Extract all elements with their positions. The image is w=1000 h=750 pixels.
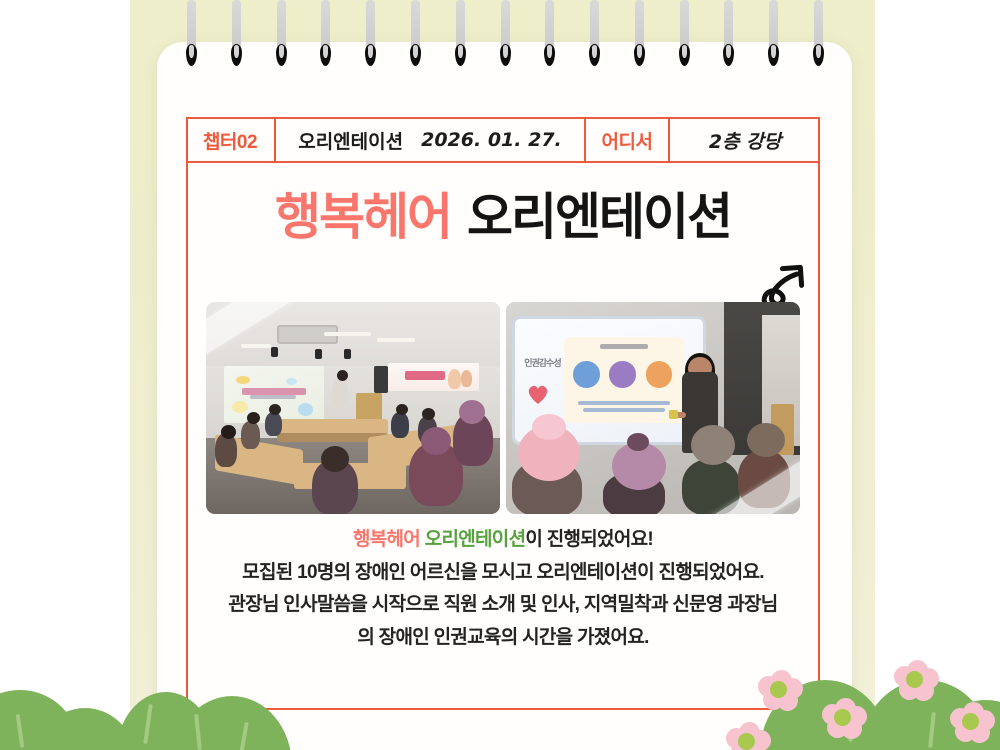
heart-icon: [526, 383, 550, 405]
header-row: 챕터02 오리엔테이션 2026. 01. 27. 어디서 2층 강당: [186, 117, 820, 163]
chapter-tag: 챕터02: [186, 117, 276, 163]
header-divider: [186, 161, 820, 163]
flower-icon: [950, 702, 996, 746]
place-label: 2층 강당: [670, 117, 820, 163]
event-meta: 오리엔테이션 2026. 01. 27.: [276, 117, 586, 163]
caption-event: 오리엔테이션: [425, 529, 526, 550]
page-title: 행복헤어 오리엔테이션: [186, 172, 820, 254]
spiral-binding: [157, 0, 852, 110]
event-banner: [388, 363, 479, 391]
caption-line-2: 모집된 10명의 장애인 어르신을 모시고 오리엔테이션이 진행되었어요.: [186, 557, 820, 590]
flower-icon: [894, 660, 940, 704]
slide-card: [564, 337, 684, 423]
poster-stage: 챕터02 오리엔테이션 2026. 01. 27. 어디서 2층 강당 행복헤어…: [0, 0, 1000, 750]
event-name-label: 오리엔테이션: [298, 127, 403, 154]
flower-icon: [758, 670, 804, 714]
caption-line-1: 행복헤어 오리엔테이션이 진행되었어요!: [186, 524, 820, 557]
flower-icon: [822, 698, 868, 742]
event-date-label: 2026. 01. 27.: [421, 129, 562, 151]
caption-line-3: 관장님 인사말씀을 시작으로 직원 소개 및 인사, 지역밀착과 신문영 과장님: [186, 589, 820, 622]
caption-brand: 행복헤어: [353, 529, 420, 550]
photo-lecture: 인권감수성: [506, 302, 800, 514]
title-brand: 행복헤어: [275, 177, 451, 249]
bottom-foliage: [0, 620, 1000, 750]
where-label: 어디서: [586, 117, 670, 163]
title-main: 오리엔테이션: [467, 177, 731, 249]
slide-title-text: 인권감수성: [524, 356, 560, 369]
caption-line1-tail: 이 진행되었어요!: [525, 529, 653, 550]
flower-icon: [726, 722, 772, 750]
photo-meeting-room: [206, 302, 500, 514]
photo-strip: 인권감수성: [206, 302, 800, 514]
